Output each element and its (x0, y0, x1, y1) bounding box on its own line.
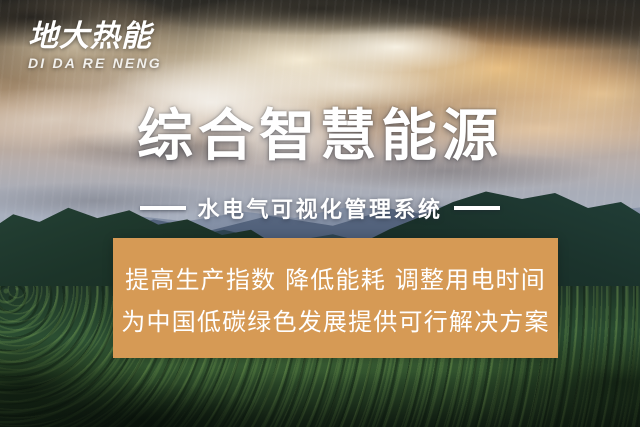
brand-logo-chinese: 地大热能 (28, 22, 162, 52)
poster-banner: 地大热能 DI DA RE NENG 综合智慧能源 水电气可视化管理系统 提高生… (0, 0, 640, 427)
subtitle-text: 水电气可视化管理系统 (197, 192, 442, 224)
brand-logo-pinyin: DI DA RE NENG (28, 56, 162, 70)
subtitle-left-rule-icon (140, 206, 186, 210)
callout-line-1: 提高生产指数 降低能耗 调整用电时间 (125, 260, 546, 295)
subtitle-row: 水电气可视化管理系统 (0, 192, 640, 224)
callout-line-2: 为中国低碳绿色发展提供可行解决方案 (121, 302, 549, 337)
page-title: 综合智慧能源 (0, 104, 640, 170)
brand-logo: 地大热能 DI DA RE NENG (28, 22, 162, 70)
callout-panel: 提高生产指数 降低能耗 调整用电时间 为中国低碳绿色发展提供可行解决方案 (113, 238, 558, 358)
subtitle-right-rule-icon (454, 206, 500, 210)
